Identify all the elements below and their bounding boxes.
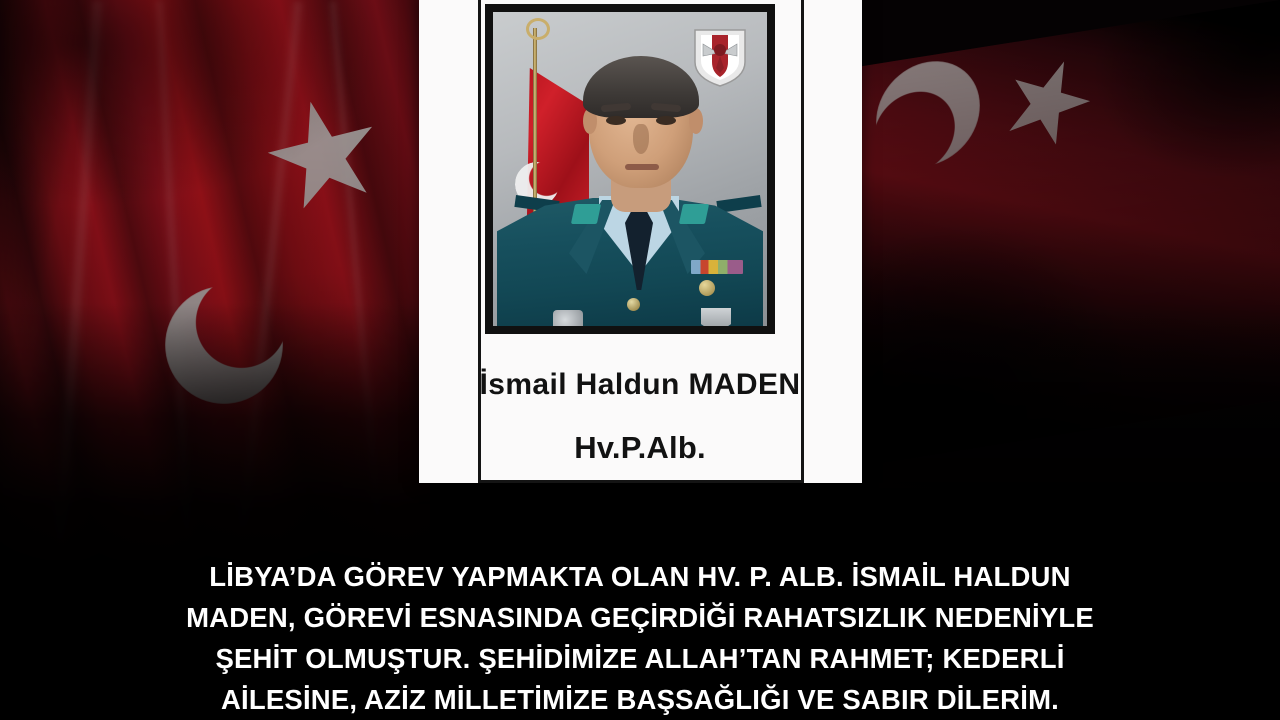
qualification-badge-right (701, 308, 731, 326)
portrait-photo-frame (485, 4, 775, 334)
medal-icon (699, 280, 715, 296)
caption-line-4: AİLESİNE, AZİZ MİLLETİMİZE BAŞSAĞLIĞI VE… (0, 679, 1280, 720)
left-flag-drapery (0, 0, 430, 560)
officer-name: İsmail Haldun MADEN (0, 368, 1280, 402)
qualification-badge-left (553, 310, 583, 326)
memorial-caption: LİBYA’DA GÖREV YAPMAKTA OLAN HV. P. ALB.… (0, 556, 1280, 720)
nose (633, 124, 649, 154)
eye-right (656, 116, 676, 125)
flag-pole-finial (526, 18, 550, 40)
flag-crescent-icon (856, 39, 1000, 188)
caption-line-3: ŞEHİT OLMUŞTUR. ŞEHİDİMİZE ALLAH’TAN RAH… (0, 638, 1280, 679)
military-crest-emblem-icon (691, 26, 749, 88)
memorial-poster: İsmail Haldun MADEN Hv.P.Alb. LİBYA’DA G… (0, 0, 1280, 720)
collar-patch-left (571, 204, 601, 224)
officer-portrait-photo (493, 12, 767, 326)
caption-line-1: LİBYA’DA GÖREV YAPMAKTA OLAN HV. P. ALB.… (0, 556, 1280, 597)
caption-line-2: MADEN, GÖREVİ ESNASINDA GEÇİRDİĞİ RAHATS… (0, 597, 1280, 638)
flag-star-icon (256, 88, 392, 224)
eye-left (606, 116, 626, 125)
mouth (625, 164, 659, 170)
flag-star-icon (996, 48, 1098, 160)
collar-patch-right (679, 204, 709, 224)
officer-rank: Hv.P.Alb. (0, 430, 1280, 466)
ribbon-bars (691, 260, 743, 274)
jacket-button-upper (627, 298, 640, 311)
